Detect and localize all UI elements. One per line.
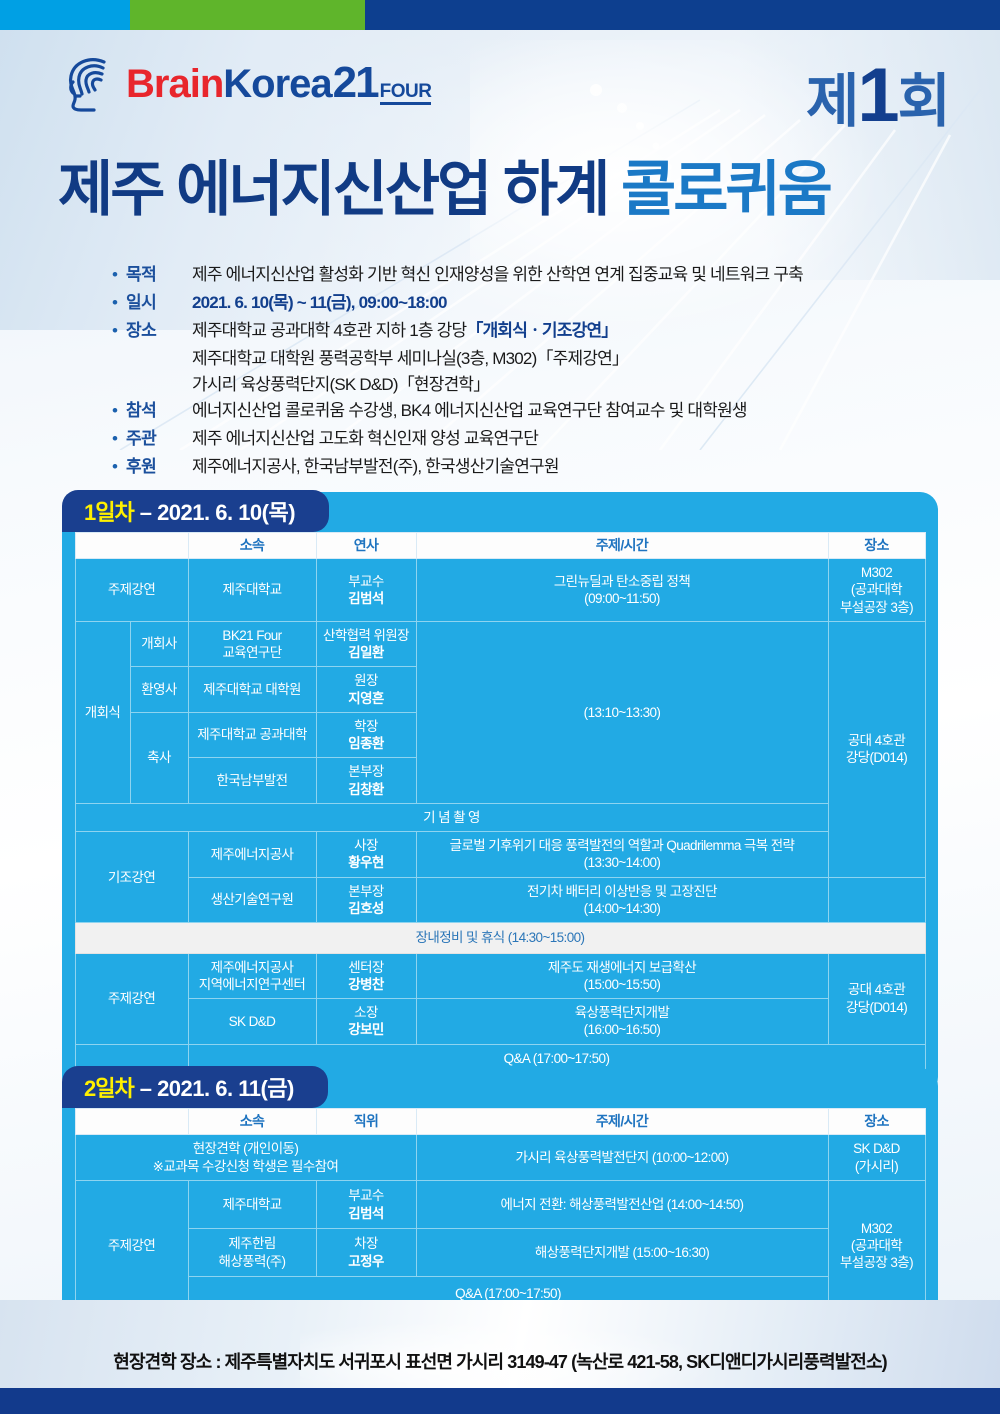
day1-r7-speaker-name: 김호성	[320, 900, 413, 917]
day2-th-topic: 주제/시간	[416, 1109, 828, 1135]
day2-r3-topic: 해상풍력단지개발 (15:00~16:30)	[416, 1229, 828, 1277]
event-info-block: • 목적 제주 에너지신산업 활성화 기반 혁신 인재양성을 위한 산학연 연계…	[112, 262, 962, 482]
day1-r8-speaker: 센터장 강병찬	[316, 953, 416, 999]
day1-opening-sub-3: 축사	[130, 712, 188, 803]
info-row-organizer: • 주관 제주 에너지신산업 고도화 혁신인재 양성 교육연구단	[112, 426, 962, 452]
topbar-segment-green	[130, 0, 365, 30]
day1-afternoon-place: 공대 4호관 강당(D014)	[828, 953, 925, 1044]
day1-r1-category: 주제강연	[75, 559, 188, 622]
day1-r4-speaker-name: 임종환	[320, 735, 413, 752]
table-row: 생산기술연구원 본부장 김호성 전기차 배터리 이상반응 및 고장진단 (14:…	[75, 877, 925, 923]
day1-r2-affiliation: BK21 Four 교육연구단	[188, 621, 316, 667]
info-row-datetime: • 일시 2021. 6. 10(목) ~ 11(금), 09:00~18:00	[112, 290, 962, 316]
logo-korea-text: Korea	[223, 64, 331, 104]
day2-r3-position: 차장 고정우	[316, 1229, 416, 1277]
day2-place: M302 (공과대학 부설공장 3층)	[828, 1181, 925, 1311]
day1-th-category	[75, 533, 188, 559]
day1-r9-speaker-title: 소장	[320, 1004, 413, 1021]
day2-r2-affiliation: 제주대학교	[188, 1181, 316, 1229]
brainkorea21-logo: BrainKorea21FOUR	[60, 52, 431, 114]
day2-r1-place: SK D&D (가시리)	[828, 1135, 925, 1181]
poster-root: BrainKorea21FOUR 제1회 제주 에너지신산업 하계 콜로퀴움 •…	[0, 0, 1000, 1414]
day1-r7-speaker-title: 본부장	[320, 883, 413, 900]
day1-r7-topic-time: (14:00~14:30)	[420, 900, 825, 917]
day1-photo-row: 기 념 촬 영	[75, 803, 828, 831]
day2-r1-category-line1: 현장견학 (개인이동)	[79, 1140, 413, 1157]
logo-21-text: 21	[333, 61, 378, 105]
day1-r3-speaker: 원장 지영흔	[316, 667, 416, 713]
day1-header-row: 소속 연사 주제/시간 장소	[75, 533, 925, 559]
info-label-sponsor: 후원	[126, 454, 192, 480]
day2-th-position: 직위	[316, 1109, 416, 1135]
day1-r3-speaker-name: 지영흔	[320, 690, 413, 707]
day1-opening-place-line2: 강당(D014)	[832, 749, 922, 766]
day2-r1-category: 현장견학 (개인이동) ※교과목 수강신청 학생은 필수참여	[75, 1135, 416, 1181]
day2-r2-topic: 에너지 전환: 해상풍력발전산업 (14:00~14:50)	[416, 1181, 828, 1229]
day1-r2-affiliation-line1: BK21 Four	[192, 627, 313, 644]
day1-r8-speaker-title: 센터장	[320, 959, 413, 976]
day2-schedule-table: 소속 직위 주제/시간 장소 현장견학 (개인이동) ※교과목 수강신청 학생은…	[75, 1108, 926, 1311]
day2-r2-position-title: 부교수	[320, 1187, 413, 1204]
day1-opening-sub-1: 개회사	[130, 621, 188, 667]
day1-schedule-table: 소속 연사 주제/시간 장소 주제강연 제주대학교 부교수 김범석 그린뉴딜과	[75, 532, 926, 1073]
day1-r2-speaker-title: 산학협력 위원장	[320, 627, 413, 644]
day1-th-speaker: 연사	[316, 533, 416, 559]
day1-r4-speaker-title: 학장	[320, 718, 413, 735]
info-value-organizer: 제주 에너지신산업 고도화 혁신인재 양성 교육연구단	[192, 426, 538, 452]
day2-r3-affiliation-line1: 제주한림	[192, 1235, 313, 1252]
day1-r1-topic: 그린뉴딜과 탄소중립 정책 (09:00~11:50)	[416, 559, 828, 622]
info-row-venue-2: 제주대학교 대학원 풍력공학부 세미나실(3층, M302)「주제강연」	[192, 346, 962, 372]
bullet-icon: •	[112, 318, 126, 344]
day1-r3-affiliation: 제주대학교 대학원	[188, 667, 316, 713]
info-value-attendees: 에너지신산업 콜로퀴움 수강생, BK4 에너지신산업 교육연구단 참여교수 및…	[192, 398, 747, 424]
day2-r1-category-line2: ※교과목 수강신청 학생은 필수참여	[79, 1158, 413, 1175]
day1-r6-topic-time: (13:30~14:00)	[420, 854, 825, 871]
day1-r9-speaker-name: 강보민	[320, 1021, 413, 1038]
bullet-icon: •	[112, 262, 126, 288]
day2-th-category	[75, 1109, 188, 1135]
bullet-icon: •	[112, 454, 126, 480]
day1-r6-topic-text: 글로벌 기후위기 대응 풍력발전의 역할과 Quadrilemma 극복 전략	[420, 837, 825, 854]
day1-r2-speaker-name: 김일환	[320, 644, 413, 661]
day2-tab: 2일차 – 2021. 6. 11(금)	[62, 1066, 328, 1108]
day1-r9-topic-time: (16:00~16:50)	[420, 1021, 825, 1038]
venue-3-emphasis: 「현장견학」	[398, 375, 490, 394]
table-row: 주제강연 제주에너지공사 지역에너지연구센터 센터장 강병찬 제주도 재생에너지…	[75, 953, 925, 999]
day1-afternoon-place-line2: 강당(D014)	[832, 999, 922, 1016]
day1-r5-speaker-name: 김창환	[320, 781, 413, 798]
table-row: 기 념 촬 영	[75, 803, 925, 831]
day1-r2-speaker: 산학협력 위원장 김일환	[316, 621, 416, 667]
day1-r4-affiliation: 제주대학교 공과대학	[188, 712, 316, 758]
bottom-color-bar	[0, 1388, 1000, 1414]
edition-prefix: 제	[806, 73, 856, 131]
day1-break-row: 장내정비 및 휴식 (14:30~15:00)	[75, 923, 925, 953]
day2-r1-place-line1: SK D&D	[832, 1140, 922, 1157]
page-title-tail: 콜로퀴움	[621, 156, 830, 223]
table-row: SK D&D 소장 강보민 육상풍력단지개발 (16:00~16:50)	[75, 999, 925, 1045]
venue-2-text: 제주대학교 대학원 풍력공학부 세미나실(3층, M302)	[192, 349, 536, 368]
day1-r1-speaker-name: 김범석	[320, 590, 413, 607]
day2-th-place: 장소	[828, 1109, 925, 1135]
bullet-icon: •	[112, 426, 126, 452]
day1-opening-place: 공대 4호관 강당(D014)	[828, 621, 925, 877]
day1-r1-place-line2: (공과대학	[832, 581, 922, 598]
day1-r6-topic: 글로벌 기후위기 대응 풍력발전의 역할과 Quadrilemma 극복 전략 …	[416, 832, 828, 878]
day1-r8-affiliation-line1: 제주에너지공사	[192, 959, 313, 976]
bullet-icon: •	[112, 290, 126, 316]
logo-brain-text: Brain	[126, 64, 223, 104]
day1-r6-speaker-title: 사장	[320, 837, 413, 854]
day1-r1-speaker-title: 부교수	[320, 573, 413, 590]
info-value-venue-1: 제주대학교 공과대학 4호관 지하 1층 강당「개회식ㆍ기조강연」	[192, 318, 618, 344]
day2-r1-place-line2: (가시리)	[832, 1158, 922, 1175]
day1-opening-place-line1: 공대 4호관	[832, 732, 922, 749]
table-row: 개회식 개회사 BK21 Four 교육연구단 산학협력 위원장 김일환 (13…	[75, 621, 925, 667]
brain-head-icon	[60, 52, 124, 114]
info-row-venue-3: 가시리 육상풍력단지(SK D&D)「현장견학」	[192, 372, 962, 398]
day1-r9-speaker: 소장 강보민	[316, 999, 416, 1045]
venue-3-text: 가시리 육상풍력단지(SK D&D)	[192, 375, 398, 394]
day2-r1-topic: 가시리 육상풍력발전단지 (10:00~12:00)	[416, 1135, 828, 1181]
day2-panel: 2일차 – 2021. 6. 11(금) 소속 직위 주제/시간 장소 현장	[62, 1068, 938, 1333]
day1-r1-affiliation: 제주대학교	[188, 559, 316, 622]
day2-place-line1: M302	[832, 1220, 922, 1237]
day1-th-affiliation: 소속	[188, 533, 316, 559]
info-value-datetime: 2021. 6. 10(목) ~ 11(금), 09:00~18:00	[192, 290, 447, 316]
day1-topic-category: 주제강연	[75, 953, 188, 1044]
page-title-main: 제주 에너지신산업 하계	[58, 156, 621, 223]
top-color-bar	[0, 0, 1000, 30]
table-row: 기조강연 제주에너지공사 사장 황우현 글로벌 기후위기 대응 풍력발전의 역할…	[75, 832, 925, 878]
edition-number: 제1회	[806, 58, 948, 134]
day1-r2-affiliation-line2: 교육연구단	[192, 644, 313, 661]
day2-tab-number: 2일차	[84, 1071, 134, 1103]
day1-r7-topic-text: 전기차 배터리 이상반응 및 고장진단	[420, 883, 825, 900]
day1-r8-topic: 제주도 재생에너지 보급확산 (15:00~15:50)	[416, 953, 828, 999]
day1-r8-affiliation: 제주에너지공사 지역에너지연구센터	[188, 953, 316, 999]
table-row: 주제강연 제주대학교 부교수 김범석 그린뉴딜과 탄소중립 정책 (09:00~…	[75, 559, 925, 622]
day1-r5-speaker: 본부장 김창환	[316, 758, 416, 804]
day1-r7-speaker: 본부장 김호성	[316, 877, 416, 923]
bullet-icon: •	[112, 398, 126, 424]
day1-r5-speaker-title: 본부장	[320, 763, 413, 780]
day1-r1-place-line1: M302	[832, 564, 922, 581]
day1-r1-topic-text: 그린뉴딜과 탄소중립 정책	[420, 573, 825, 590]
day2-r3-affiliation: 제주한림 해상풍력(주)	[188, 1229, 316, 1277]
info-label-attendees: 참석	[126, 398, 192, 424]
day2-place-line3: 부설공장 3층)	[832, 1254, 922, 1271]
day1-r1-topic-time: (09:00~11:50)	[420, 590, 825, 607]
day1-afternoon-place-line1: 공대 4호관	[832, 981, 922, 998]
day1-tab: 1일차 – 2021. 6. 10(목)	[62, 490, 329, 532]
day2-r3-position-name: 고정우	[320, 1253, 413, 1270]
day1-r5-affiliation: 한국남부발전	[188, 758, 316, 804]
day1-r1-place: M302 (공과대학 부설공장 3층)	[828, 559, 925, 622]
day2-qa-row: Q&A (17:00~17:50)	[188, 1277, 828, 1311]
table-row: 제주한림 해상풍력(주) 차장 고정우 해상풍력단지개발 (15:00~16:3…	[75, 1229, 925, 1277]
table-row: 주제강연 제주대학교 부교수 김범석 에너지 전환: 해상풍력발전산업 (14:…	[75, 1181, 925, 1229]
day1-r1-place-line3: 부설공장 3층)	[832, 599, 922, 616]
day1-panel: 1일차 – 2021. 6. 10(목) 소속 연사 주제/시간 장소 주제강연	[62, 492, 938, 1095]
table-row: Q&A (17:00~17:50)	[75, 1277, 925, 1311]
day1-th-place: 장소	[828, 533, 925, 559]
footer-note: 현장견학 장소 : 제주특별자치도 서귀포시 표선면 가시리 3149-47 (…	[0, 1348, 1000, 1374]
info-row-purpose: • 목적 제주 에너지신산업 활성화 기반 혁신 인재양성을 위한 산학연 연계…	[112, 262, 962, 288]
day1-r4-speaker: 학장 임종환	[316, 712, 416, 758]
venue-1-emphasis: 「개회식ㆍ기조강연」	[466, 321, 617, 340]
day1-opening-category: 개회식	[75, 621, 130, 803]
day1-r9-affiliation: SK D&D	[188, 999, 316, 1045]
day2-topic-category: 주제강연	[75, 1181, 188, 1311]
day1-r6-speaker: 사장 황우현	[316, 832, 416, 878]
table-row: 장내정비 및 휴식 (14:30~15:00)	[75, 923, 925, 953]
info-row-attendees: • 참석 에너지신산업 콜로퀴움 수강생, BK4 에너지신산업 교육연구단 참…	[112, 398, 962, 424]
day2-r2-position: 부교수 김범석	[316, 1181, 416, 1229]
info-row-sponsor: • 후원 제주에너지공사, 한국남부발전(주), 한국생산기술연구원	[112, 454, 962, 480]
day1-tab-date: – 2021. 6. 10(목)	[140, 495, 295, 527]
venue-1-text: 제주대학교 공과대학 4호관 지하 1층 강당	[192, 321, 466, 340]
info-label-datetime: 일시	[126, 290, 192, 316]
info-label-venue: 장소	[126, 318, 192, 344]
venue-2-emphasis: 「주제강연」	[536, 349, 628, 368]
info-row-venue-1: • 장소 제주대학교 공과대학 4호관 지하 1층 강당「개회식ㆍ기조강연」	[112, 318, 962, 344]
day1-r6-affiliation: 제주에너지공사	[188, 832, 316, 878]
day2-r3-position-title: 차장	[320, 1235, 413, 1252]
day1-r7-place-spacer	[828, 877, 925, 923]
day1-r9-topic: 육상풍력단지개발 (16:00~16:50)	[416, 999, 828, 1045]
day1-r8-topic-text: 제주도 재생에너지 보급확산	[420, 959, 825, 976]
day1-r7-topic: 전기차 배터리 이상반응 및 고장진단 (14:00~14:30)	[416, 877, 828, 923]
day2-th-affiliation: 소속	[188, 1109, 316, 1135]
day1-th-topic: 주제/시간	[416, 533, 828, 559]
day1-r9-topic-text: 육상풍력단지개발	[420, 1004, 825, 1021]
day2-header-row: 소속 직위 주제/시간 장소	[75, 1109, 925, 1135]
day2-tab-date: – 2021. 6. 11(금)	[140, 1071, 294, 1103]
day1-tab-number: 1일차	[84, 495, 134, 527]
day1-r3-speaker-title: 원장	[320, 672, 413, 689]
page-title: 제주 에너지신산업 하계 콜로퀴움	[58, 158, 958, 221]
topbar-segment-navy	[365, 0, 1000, 30]
day2-place-line2: (공과대학	[832, 1237, 922, 1254]
info-value-purpose: 제주 에너지신산업 활성화 기반 혁신 인재양성을 위한 산학연 연계 집중교육…	[192, 262, 803, 288]
edition-digit: 1	[857, 58, 896, 134]
day2-r3-affiliation-line2: 해상풍력(주)	[192, 1253, 313, 1270]
table-row: 현장견학 (개인이동) ※교과목 수강신청 학생은 필수참여 가시리 육상풍력발…	[75, 1135, 925, 1181]
day1-opening-time: (13:10~13:30)	[416, 621, 828, 803]
topbar-segment-cyan	[0, 0, 130, 30]
day1-r6-speaker-name: 황우현	[320, 854, 413, 871]
day1-r8-affiliation-line2: 지역에너지연구센터	[192, 976, 313, 993]
day1-opening-sub-2: 환영사	[130, 667, 188, 713]
day1-keynote-category: 기조강연	[75, 832, 188, 923]
day1-r8-topic-time: (15:00~15:50)	[420, 976, 825, 993]
info-label-purpose: 목적	[126, 262, 192, 288]
day1-r7-affiliation: 생산기술연구원	[188, 877, 316, 923]
info-value-sponsor: 제주에너지공사, 한국남부발전(주), 한국생산기술연구원	[192, 454, 559, 480]
logo-four-text: FOUR	[380, 82, 432, 105]
day2-r2-position-name: 김범석	[320, 1205, 413, 1222]
edition-suffix: 회	[898, 73, 948, 131]
info-label-organizer: 주관	[126, 426, 192, 452]
day1-r1-speaker: 부교수 김범석	[316, 559, 416, 622]
day1-r8-speaker-name: 강병찬	[320, 976, 413, 993]
